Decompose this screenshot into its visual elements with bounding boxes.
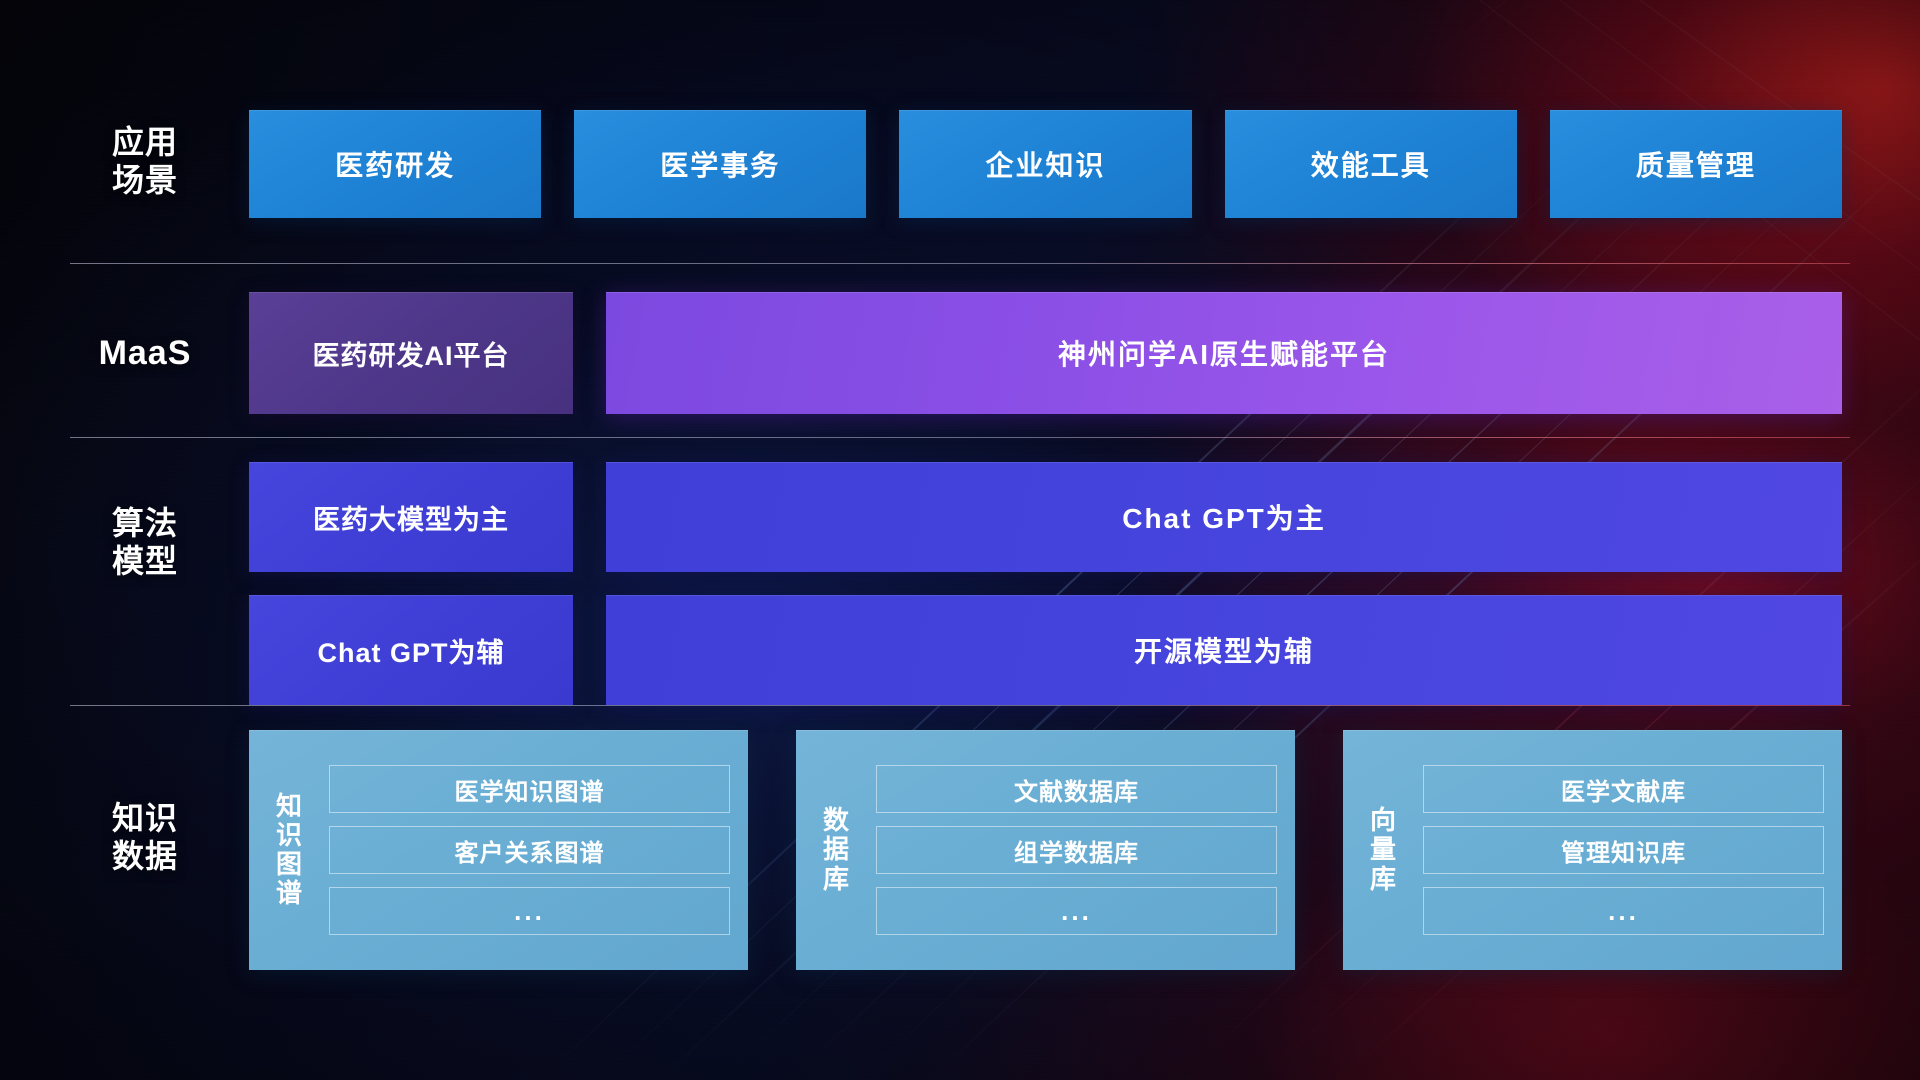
algo-box-chatgpt-primary[interactable]: Chat GPT为主 [606,462,1842,572]
tier-label-maas: MaaS [70,333,220,373]
app-box-label: 医学事务 [660,144,780,184]
app-box-medical-affairs[interactable]: 医学事务 [574,110,866,218]
app-box-label: 质量管理 [1636,144,1756,184]
app-box-enterprise-knowledge[interactable]: 企业知识 [899,110,1191,218]
knowledge-group-vector-store: 向 量 库 医学文献库 管理知识库 ... [1343,730,1842,970]
algo-box-medicine-llm-primary[interactable]: 医药大模型为主 [249,462,573,572]
knowledge-item-label: ... [1061,896,1092,927]
algorithm-row-secondary: Chat GPT为辅 开源模型为辅 [249,595,1842,705]
tier-label-application: 应用 场景 [70,124,220,200]
tier-label-knowledge-line2: 数据 [70,838,220,876]
app-box-label: 效能工具 [1311,144,1431,184]
maas-box-shenzhou-wenxue-platform[interactable]: 神州问学AI原生赋能平台 [606,292,1842,414]
app-box-label: 企业知识 [986,144,1106,184]
maas-row: 医药研发AI平台 神州问学AI原生赋能平台 [249,292,1842,414]
vertical-label-char: 图 [276,850,302,879]
maas-box-label: 神州问学AI原生赋能平台 [1058,333,1390,373]
knowledge-item-label: 管理知识库 [1561,833,1686,868]
vertical-label-char: 谱 [276,879,302,908]
app-box-efficiency-tools[interactable]: 效能工具 [1225,110,1517,218]
knowledge-item-management-knowledge-store[interactable]: 管理知识库 [1423,826,1824,874]
knowledge-group-vertical-label: 知 识 图 谱 [263,792,315,908]
algorithm-rows: 医药大模型为主 Chat GPT为主 Chat GPT为辅 开源模型为辅 [249,462,1842,705]
knowledge-item-label: ... [1608,896,1639,927]
knowledge-item-medical-knowledge-graph[interactable]: 医学知识图谱 [329,765,730,813]
knowledge-item-label: 组学数据库 [1014,833,1139,868]
vertical-label-char: 量 [1370,835,1396,864]
knowledge-group-knowledge-graph: 知 识 图 谱 医学知识图谱 客户关系图谱 ... [249,730,748,970]
knowledge-item-label: 文献数据库 [1014,772,1139,807]
tier-label-algorithm-line1: 算法 [70,505,220,543]
vertical-label-char: 向 [1370,806,1396,835]
tier-label-knowledge-line1: 知识 [70,800,220,838]
knowledge-item-label: 客户关系图谱 [455,833,605,868]
maas-box-label: 医药研发AI平台 [313,334,510,373]
vertical-label-char: 知 [276,792,302,821]
algo-box-opensource-secondary[interactable]: 开源模型为辅 [606,595,1842,705]
knowledge-item-omics-database[interactable]: 组学数据库 [876,826,1277,874]
vertical-label-char: 数 [823,806,849,835]
tier-label-application-line2: 场景 [70,162,220,200]
tier-label-knowledge: 知识 数据 [70,800,220,876]
algorithm-row-primary: 医药大模型为主 Chat GPT为主 [249,462,1842,572]
knowledge-item-customer-relation-graph[interactable]: 客户关系图谱 [329,826,730,874]
app-box-quality-management[interactable]: 质量管理 [1550,110,1842,218]
vertical-label-char: 据 [823,835,849,864]
app-box-medicine-rd[interactable]: 医药研发 [249,110,541,218]
knowledge-item-more[interactable]: ... [329,887,730,935]
knowledge-item-label: 医学文献库 [1561,772,1686,807]
algo-box-label: 医药大模型为主 [313,498,509,537]
tier-label-maas-line1: MaaS [70,333,220,373]
algo-box-label: 开源模型为辅 [1134,630,1314,670]
app-box-label: 医药研发 [335,144,455,184]
divider-maas-algorithm [70,437,1850,438]
knowledge-item-literature-database[interactable]: 文献数据库 [876,765,1277,813]
knowledge-item-more[interactable]: ... [876,887,1277,935]
algo-box-chatgpt-secondary[interactable]: Chat GPT为辅 [249,595,573,705]
tier-label-algorithm: 算法 模型 [70,505,220,581]
application-row: 医药研发 医学事务 企业知识 效能工具 质量管理 [249,110,1842,218]
tier-label-application-line1: 应用 [70,124,220,162]
tier-label-algorithm-line2: 模型 [70,543,220,581]
knowledge-group-items: 医学文献库 管理知识库 ... [1423,765,1824,935]
vertical-label-char: 库 [1370,865,1396,894]
knowledge-item-label: ... [514,896,545,927]
knowledge-group-vertical-label: 数 据 库 [810,806,862,893]
knowledge-item-more[interactable]: ... [1423,887,1824,935]
maas-box-medicine-ai-platform[interactable]: 医药研发AI平台 [249,292,573,414]
knowledge-group-vertical-label: 向 量 库 [1357,806,1409,893]
knowledge-group-items: 医学知识图谱 客户关系图谱 ... [329,765,730,935]
vertical-label-char: 识 [276,821,302,850]
knowledge-group-items: 文献数据库 组学数据库 ... [876,765,1277,935]
knowledge-item-medical-literature-store[interactable]: 医学文献库 [1423,765,1824,813]
knowledge-group-database: 数 据 库 文献数据库 组学数据库 ... [796,730,1295,970]
knowledge-item-label: 医学知识图谱 [455,772,605,807]
divider-application-maas [70,263,1850,264]
vertical-label-char: 库 [823,865,849,894]
algo-box-label: Chat GPT为辅 [317,631,504,670]
divider-algorithm-knowledge [70,705,1850,706]
algo-box-label: Chat GPT为主 [1122,497,1326,537]
knowledge-row: 知 识 图 谱 医学知识图谱 客户关系图谱 ... 数 据 库 文献数据库 组学… [249,730,1842,970]
architecture-diagram: 应用 场景 医药研发 医学事务 企业知识 效能工具 质量管理 MaaS 医药研发… [0,0,1920,1080]
